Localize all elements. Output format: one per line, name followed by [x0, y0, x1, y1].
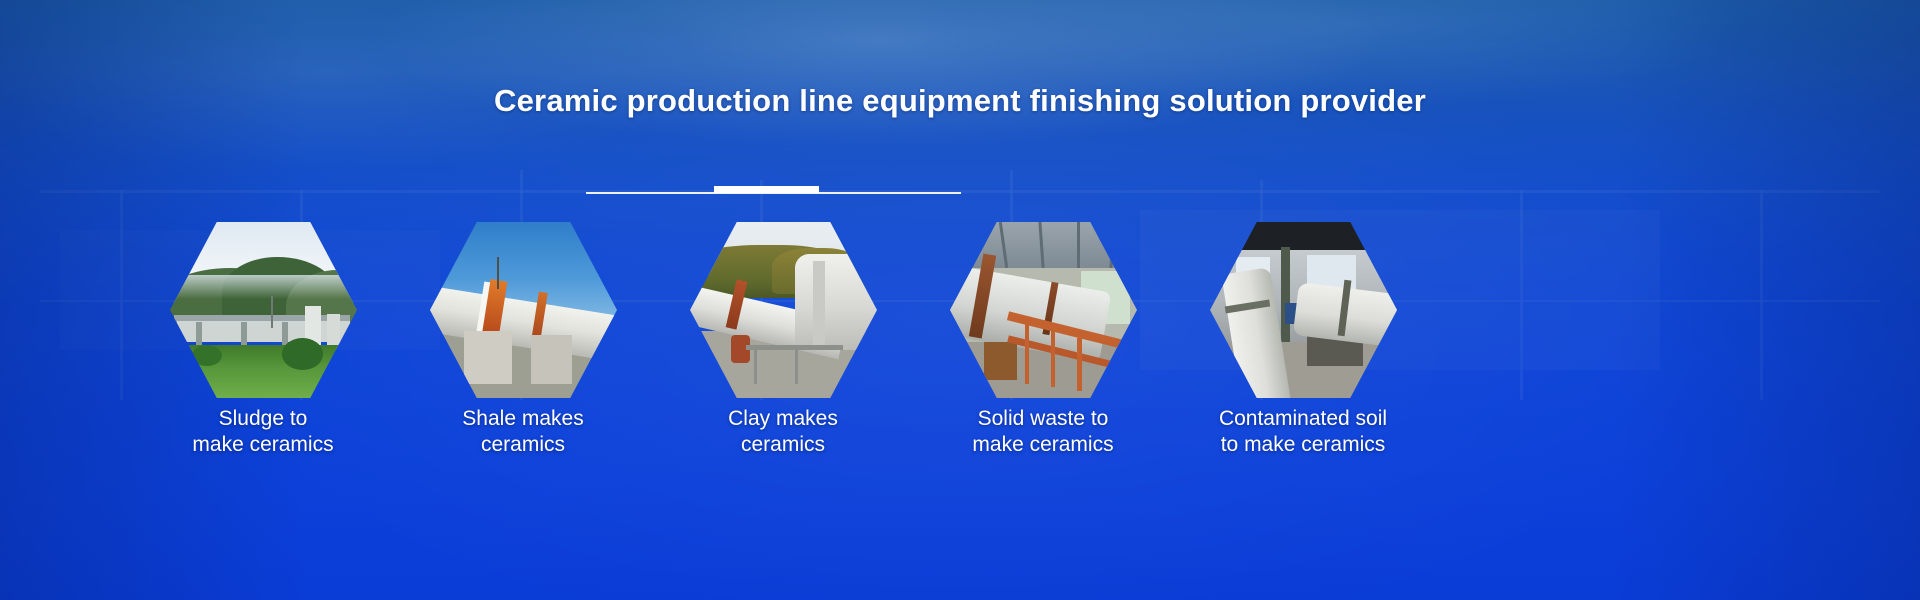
card-label-line2: make ceramics — [912, 432, 1174, 458]
rotary-kiln-workshop-photo — [950, 222, 1137, 398]
card-label-line1: Clay makes — [652, 406, 914, 432]
hexagon-image-frame[interactable] — [170, 222, 357, 398]
card-label-line1: Sludge to — [132, 406, 394, 432]
card-label-line1: Contaminated soil — [1172, 406, 1434, 432]
solution-card-list: Sludge to make ceramics — [0, 222, 1920, 482]
rotary-kiln-hillside-photo — [690, 222, 877, 398]
card-label: Contaminated soil to make ceramics — [1172, 406, 1434, 458]
page-title: Ceramic production line equipment finish… — [0, 83, 1920, 119]
card-label: Sludge to make ceramics — [132, 406, 394, 458]
solution-card-clay[interactable]: Clay makes ceramics — [652, 222, 914, 482]
hexagon-image-frame[interactable] — [690, 222, 877, 398]
hexagon-image-frame[interactable] — [950, 222, 1137, 398]
card-label-line1: Solid waste to — [912, 406, 1174, 432]
solution-card-solid-waste[interactable]: Solid waste to make ceramics — [912, 222, 1174, 482]
solution-card-contaminated-soil[interactable]: Contaminated soil to make ceramics — [1172, 222, 1434, 482]
card-label-line2: ceramics — [392, 432, 654, 458]
card-label-line2: to make ceramics — [1172, 432, 1434, 458]
twin-rotary-kilns-indoor-photo — [1210, 222, 1397, 398]
hexagon-image-frame[interactable] — [430, 222, 617, 398]
card-label: Clay makes ceramics — [652, 406, 914, 458]
card-label: Solid waste to make ceramics — [912, 406, 1174, 458]
card-label-line2: ceramics — [652, 432, 914, 458]
hero-banner: Ceramic production line equipment finish… — [0, 0, 1920, 600]
title-divider — [586, 185, 961, 201]
card-label: Shale makes ceramics — [392, 406, 654, 458]
divider-highlight — [714, 186, 819, 193]
card-label-line1: Shale makes — [392, 406, 654, 432]
solution-card-shale[interactable]: Shale makes ceramics — [392, 222, 654, 482]
rotary-kiln-outdoor-photo — [430, 222, 617, 398]
hexagon-image-frame[interactable] — [1210, 222, 1397, 398]
solution-card-sludge[interactable]: Sludge to make ceramics — [132, 222, 394, 482]
sludge-treatment-plant-photo — [170, 222, 357, 398]
card-label-line2: make ceramics — [132, 432, 394, 458]
